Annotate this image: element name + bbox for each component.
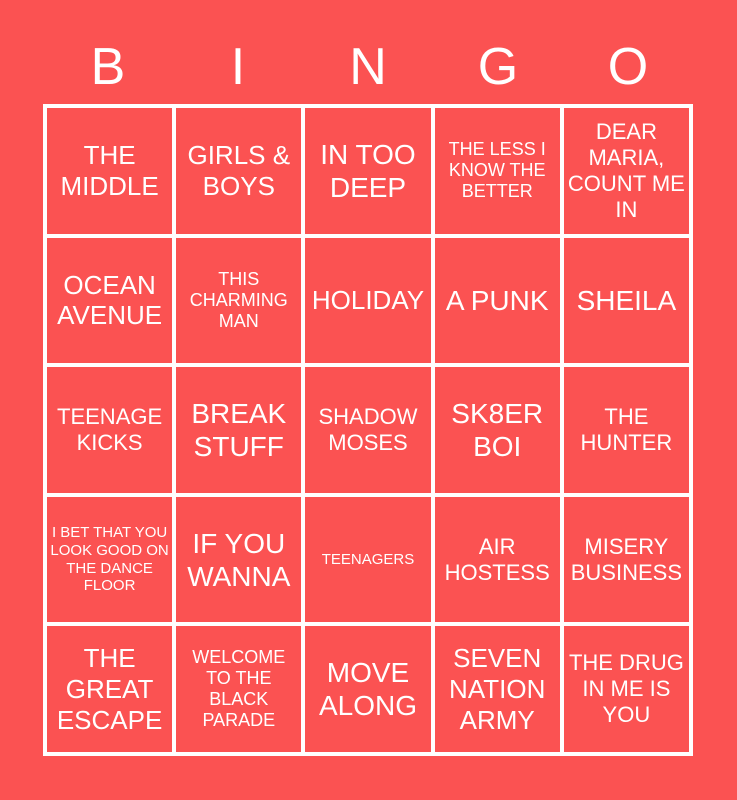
bingo-cell[interactable]: DEAR MARIA, COUNT ME IN [564,108,689,234]
bingo-cell[interactable]: BREAK STUFF [176,367,301,493]
bingo-cell-label: TEENAGE KICKS [49,404,170,456]
bingo-cell-label: SHADOW MOSES [307,404,428,456]
bingo-cell[interactable]: THE MIDDLE [47,108,172,234]
header-letter-b: B [43,39,173,95]
bingo-cell-label: SK8ER BOI [437,397,558,463]
bingo-cell-label: AIR HOSTESS [437,534,558,586]
bingo-cell-label: THE GREAT ESCAPE [49,643,170,735]
bingo-cell[interactable]: MISERY BUSINESS [564,497,689,623]
bingo-cell[interactable]: IN TOO DEEP [305,108,430,234]
bingo-cell-label: DEAR MARIA, COUNT ME IN [566,119,687,223]
bingo-cell-label: IF YOU WANNA [178,527,299,593]
bingo-grid: THE MIDDLEGIRLS & BOYSIN TOO DEEPTHE LES… [43,104,693,756]
bingo-cell[interactable]: A PUNK [435,238,560,364]
bingo-cell-label: MOVE ALONG [307,656,428,722]
bingo-cell[interactable]: AIR HOSTESS [435,497,560,623]
bingo-cell-label: THE DRUG IN ME IS YOU [566,650,687,728]
header-letter-o: O [563,39,693,95]
bingo-card: B I N G O THE MIDDLEGIRLS & BOYSIN TOO D… [0,0,737,800]
bingo-cell[interactable]: TEENAGE KICKS [47,367,172,493]
bingo-cell[interactable]: OCEAN AVENUE [47,238,172,364]
bingo-cell-label: BREAK STUFF [178,397,299,463]
bingo-cell-label: WELCOME TO THE BLACK PARADE [178,647,299,732]
bingo-cell-label: THE HUNTER [566,404,687,456]
bingo-cell-label: THE LESS I KNOW THE BETTER [437,139,558,203]
bingo-cell[interactable]: THE LESS I KNOW THE BETTER [435,108,560,234]
bingo-cell[interactable]: SEVEN NATION ARMY [435,626,560,752]
header-letter-i: I [173,39,303,95]
bingo-cell[interactable]: HOLIDAY [305,238,430,364]
bingo-cell[interactable]: IF YOU WANNA [176,497,301,623]
header-letter-g: G [433,39,563,95]
bingo-cell-label: THE MIDDLE [49,140,170,201]
bingo-cell-label: MISERY BUSINESS [566,534,687,586]
bingo-cell[interactable]: SHEILA [564,238,689,364]
bingo-header: B I N G O [43,36,693,98]
bingo-cell[interactable]: I BET THAT YOU LOOK GOOD ON THE DANCE FL… [47,497,172,623]
bingo-cell-label: I BET THAT YOU LOOK GOOD ON THE DANCE FL… [49,524,170,595]
bingo-cell-label: THIS CHARMING MAN [178,269,299,333]
bingo-cell-label: GIRLS & BOYS [178,140,299,201]
bingo-cell-label: SEVEN NATION ARMY [437,643,558,735]
bingo-cell[interactable]: SK8ER BOI [435,367,560,493]
bingo-cell[interactable]: THE HUNTER [564,367,689,493]
bingo-cell-label: OCEAN AVENUE [49,270,170,331]
bingo-cell[interactable]: WELCOME TO THE BLACK PARADE [176,626,301,752]
bingo-cell-label: A PUNK [437,284,558,317]
bingo-cell[interactable]: THE GREAT ESCAPE [47,626,172,752]
bingo-cell[interactable]: GIRLS & BOYS [176,108,301,234]
bingo-cell[interactable]: TEENAGERS [305,497,430,623]
header-letter-n: N [303,39,433,95]
bingo-cell[interactable]: THE DRUG IN ME IS YOU [564,626,689,752]
bingo-cell-label: SHEILA [566,284,687,317]
bingo-cell-label: HOLIDAY [307,285,428,316]
bingo-cell-label: TEENAGERS [307,551,428,569]
bingo-cell[interactable]: SHADOW MOSES [305,367,430,493]
bingo-cell[interactable]: THIS CHARMING MAN [176,238,301,364]
bingo-cell-label: IN TOO DEEP [307,138,428,204]
bingo-cell[interactable]: MOVE ALONG [305,626,430,752]
